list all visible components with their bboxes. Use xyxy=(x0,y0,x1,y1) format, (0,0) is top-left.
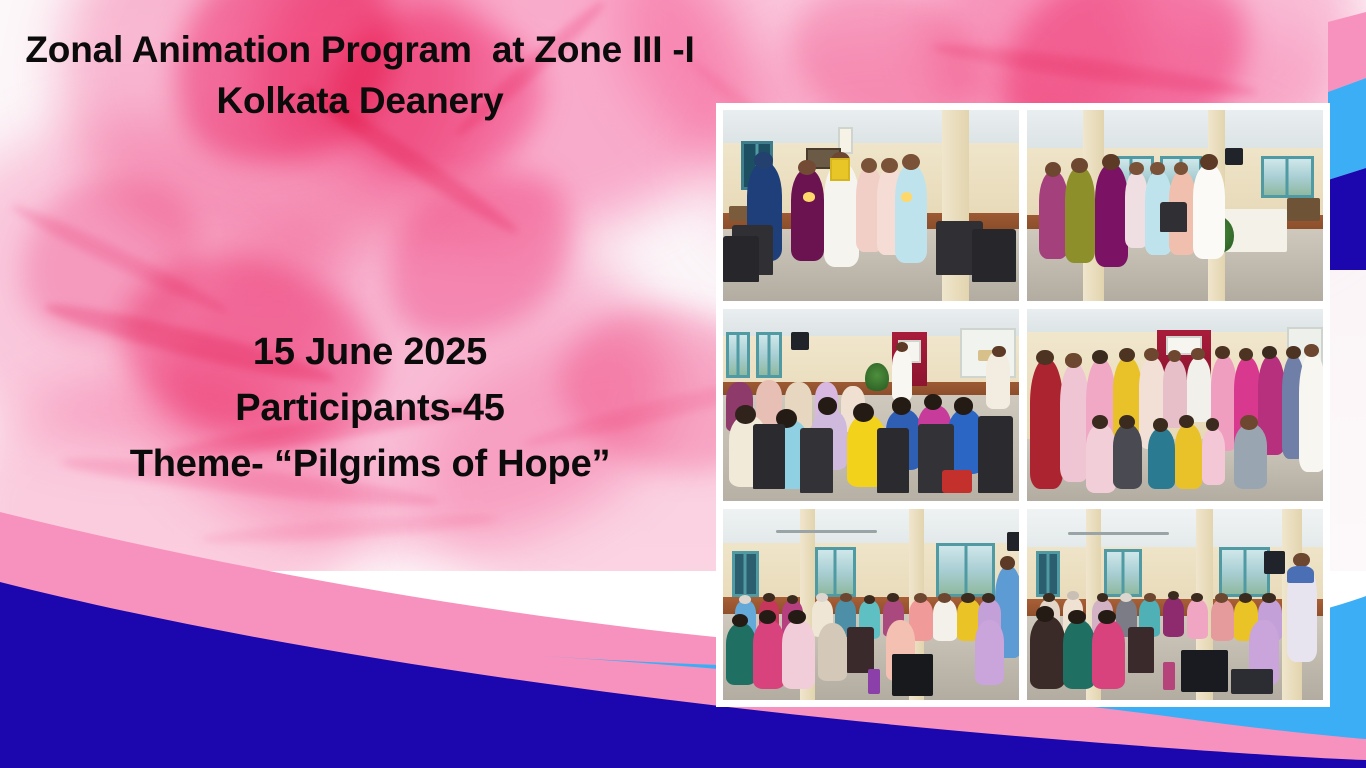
event-date: 15 June 2025 xyxy=(0,325,740,381)
slide-title: Zonal Animation Program at Zone III -I K… xyxy=(0,24,720,126)
collage-photo-6 xyxy=(1027,509,1323,700)
participants-count: Participants-45 xyxy=(0,381,740,437)
collage-photo-5 xyxy=(723,509,1019,700)
collage-photo-3 xyxy=(723,309,1019,500)
collage-photo-4 xyxy=(1027,309,1323,500)
collage-photo-1 xyxy=(723,110,1019,301)
edge-bar-pink xyxy=(1328,12,1366,92)
event-details: 15 June 2025 Participants-45 Theme- “Pil… xyxy=(0,325,740,493)
edge-bar-navy xyxy=(1328,168,1366,270)
edge-bar-cyan xyxy=(1328,78,1366,180)
title-line-2: Kolkata Deanery xyxy=(0,75,720,126)
right-edge-color-bars xyxy=(1328,0,1366,270)
photo-collage xyxy=(716,103,1330,707)
event-theme: Theme- “Pilgrims of Hope” xyxy=(0,437,740,493)
collage-photo-2 xyxy=(1027,110,1323,301)
slide-canvas: Zonal Animation Program at Zone III -I K… xyxy=(0,0,1366,768)
title-line-1: Zonal Animation Program at Zone III -I xyxy=(0,24,720,75)
